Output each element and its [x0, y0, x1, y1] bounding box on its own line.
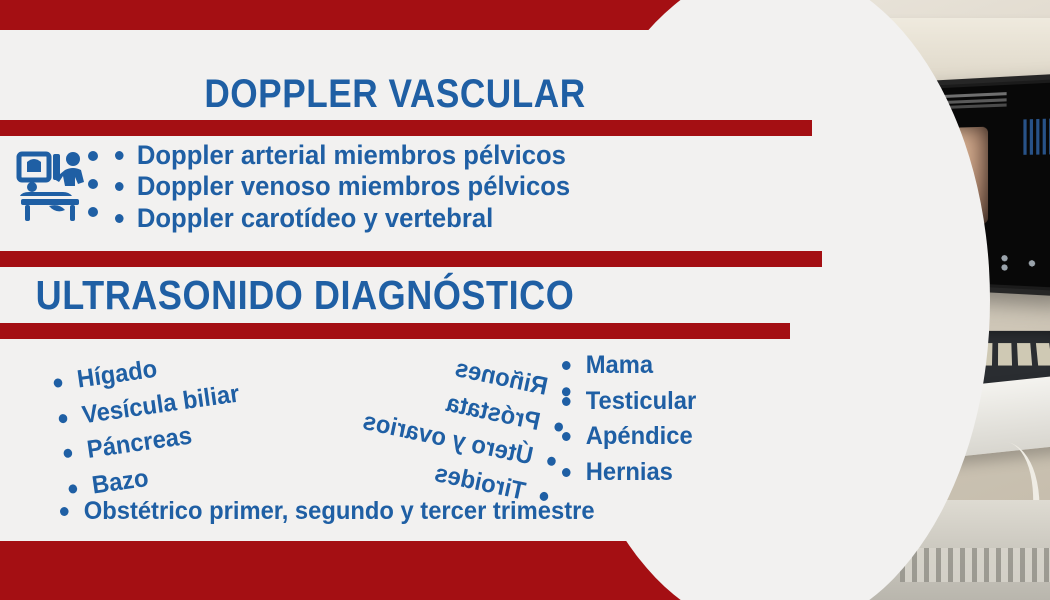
list-item: Doppler carotídeo y vertebral	[115, 203, 570, 234]
ultrasound-section-title: ULTRASONIDO DIAGNÓSTICO	[0, 272, 653, 319]
list-item: Doppler arterial miembros pélvicos	[115, 140, 570, 171]
ultrasound-column-2: Riñones Próstata Útero y ovarios Tiroide…	[300, 324, 574, 515]
bullet-icon	[115, 151, 124, 160]
ultrasound-item-label: Testicular	[586, 384, 696, 420]
list-item: Apéndice	[562, 419, 781, 455]
bullet-icon	[562, 397, 571, 406]
doppler-list: Doppler arterial miembros pélvicos Doppl…	[115, 140, 594, 234]
ultrasound-exam-icon	[0, 144, 115, 230]
ultrasound-item-label: Hernias	[586, 455, 673, 491]
bullet-icon	[68, 484, 78, 494]
poster: DOPPLER VASCULAR	[0, 0, 1050, 600]
doppler-item-label: Doppler arterial miembros pélvicos	[137, 140, 566, 171]
bullet-icon	[53, 378, 63, 388]
content-area: DOPPLER VASCULAR	[0, 0, 835, 600]
doppler-section: Doppler arterial miembros pélvicos Doppl…	[0, 140, 790, 234]
screen-brand-mark	[1023, 119, 1050, 155]
bullet-icon	[58, 413, 68, 423]
ultrasound-item-label: Obstétrico primer, segundo y tercer trim…	[84, 497, 595, 526]
doppler-section-title: DOPPLER VASCULAR	[47, 72, 742, 117]
bullet-icon	[562, 361, 571, 370]
bullet-icon	[562, 468, 571, 477]
bullet-icon	[60, 507, 69, 516]
bullet-icon	[115, 214, 124, 223]
bullet-icon	[562, 432, 571, 441]
list-item: Hernias	[562, 455, 781, 491]
ultrasound-wide-item: Obstétrico primer, segundo y tercer trim…	[60, 497, 763, 526]
ultrasound-columns: Hígado Vesícula biliar Páncreas Bazo	[60, 348, 800, 490]
list-item: Mama	[562, 348, 781, 384]
ultrasound-item-label: Mama	[586, 348, 653, 384]
list-item: Doppler venoso miembros pélvicos	[115, 171, 570, 202]
bullet-icon	[115, 182, 124, 191]
doppler-item-label: Doppler carotídeo y vertebral	[137, 203, 493, 234]
bullet-icon	[63, 448, 73, 458]
bullet-icon	[546, 456, 556, 467]
machine-vents	[900, 548, 1050, 582]
doppler-item-label: Doppler venoso miembros pélvicos	[137, 171, 570, 202]
ultrasound-column-1: Hígado Vesícula biliar Páncreas Bazo	[51, 331, 320, 507]
list-item: Testicular	[562, 384, 781, 420]
ultrasound-column-3: Mama Testicular Apéndice Hernias	[562, 348, 792, 490]
ultrasound-item-label: Apéndice	[586, 419, 693, 455]
